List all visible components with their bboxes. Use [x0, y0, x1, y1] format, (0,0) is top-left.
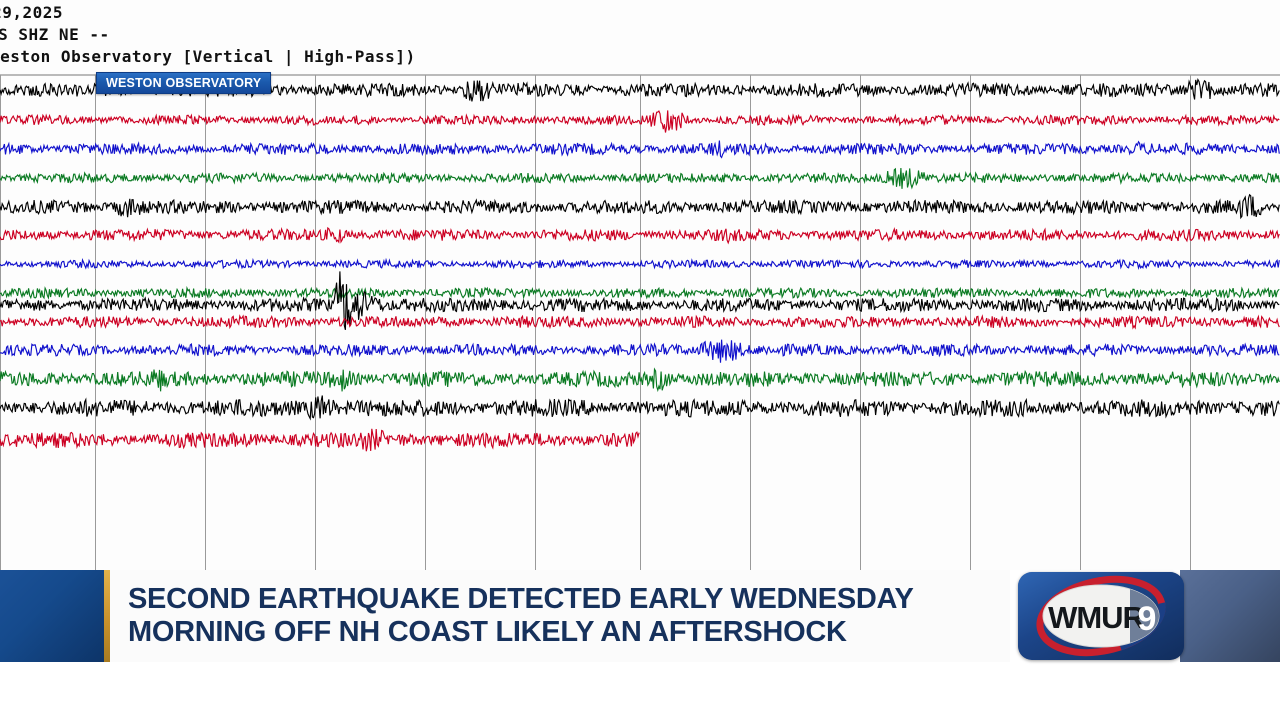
header-station-line: leston Observatory [Vertical | High-Pass…	[0, 46, 640, 68]
lower-third-banner: SECOND EARTHQUAKE DETECTED EARLY WEDNESD…	[0, 570, 1280, 662]
source-credit-badge: WESTON OBSERVATORY	[96, 72, 271, 94]
headline-line-2: MORNING OFF NH COAST LIKELY AN AFTERSHOC…	[128, 616, 1010, 649]
lower-third-left-block	[0, 570, 104, 662]
wmur-logo-svg: WMUR 9	[1018, 572, 1184, 660]
logo-channel-number: 9	[1138, 600, 1157, 638]
lower-third-text-panel: SECOND EARTHQUAKE DETECTED EARLY WEDNESD…	[110, 570, 1010, 662]
logo-station-text: WMUR	[1048, 600, 1144, 635]
header-channel-line: ES SHZ NE --	[0, 24, 640, 46]
headline-line-1: SECOND EARTHQUAKE DETECTED EARLY WEDNESD…	[128, 583, 1010, 616]
broadcast-screenshot: n29,2025 ES SHZ NE -- leston Observatory…	[0, 0, 1280, 720]
lower-third-right-block	[1180, 570, 1280, 662]
source-credit-label: WESTON OBSERVATORY	[106, 76, 261, 90]
helicorder-header: n29,2025 ES SHZ NE -- leston Observatory…	[0, 2, 640, 74]
header-date-line: n29,2025	[0, 2, 640, 24]
wmur-channel-logo: WMUR 9	[1018, 572, 1184, 660]
